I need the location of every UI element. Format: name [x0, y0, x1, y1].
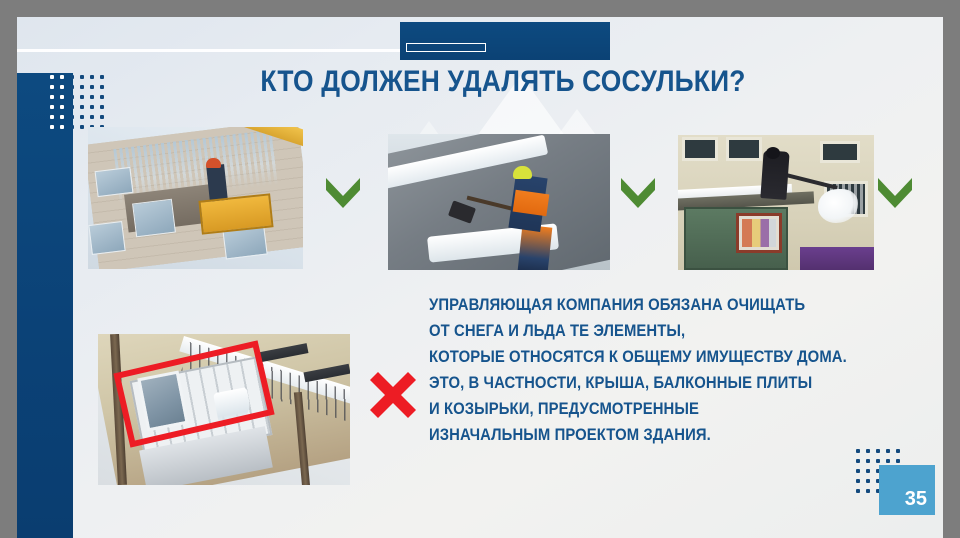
body-text-line: ОТ СНЕГА И ЛЬДА ТЕ ЭЛЕМЕНТЫ,	[429, 318, 879, 344]
body-text-line: И КОЗЫРЬКИ, ПРЕДУСМОТРЕННЫЕ	[429, 396, 879, 422]
dot-grid-top-left	[50, 75, 104, 129]
body-text-line: ЭТО, В ЧАСТНОСТИ, КРЫША, БАЛКОННЫЕ ПЛИТЫ	[429, 370, 879, 396]
photo-entrance-canopy-clearing	[678, 135, 874, 270]
top-accent-block	[400, 22, 610, 60]
top-accent-inner-outline	[406, 43, 486, 52]
photo-roof-snow-shoveling	[388, 134, 610, 270]
body-text-block: УПРАВЛЯЮЩАЯ КОМПАНИЯ ОБЯЗАНА ОЧИЩАТЬ ОТ …	[429, 292, 929, 448]
body-text-line: КОТОРЫЕ ОТНОСЯТСЯ К ОБЩЕМУ ИМУЩЕСТВУ ДОМ…	[429, 344, 879, 370]
slide-canvas: КТО ДОЛЖЕН УДАЛЯТЬ СОСУЛЬКИ?	[17, 17, 943, 538]
body-text-line: ИЗНАЧАЛЬНЫМ ПРОЕКТОМ ЗДАНИЯ.	[429, 422, 879, 448]
top-accent-line	[17, 49, 409, 52]
chevron-down-icon	[323, 172, 363, 212]
left-accent-bar	[17, 73, 73, 538]
chevron-down-icon	[875, 172, 915, 212]
photo-glazed-balcony-highlighted	[98, 334, 350, 485]
photo-cherry-picker-icicles	[88, 127, 303, 269]
red-cross-icon	[365, 367, 421, 423]
slide-title: КТО ДОЛЖЕН УДАЛЯТЬ СОСУЛЬКИ?	[125, 65, 882, 99]
body-text-line: УПРАВЛЯЮЩАЯ КОМПАНИЯ ОБЯЗАНА ОЧИЩАТЬ	[429, 292, 879, 318]
slide-root: КТО ДОЛЖЕН УДАЛЯТЬ СОСУЛЬКИ?	[0, 0, 960, 538]
chevron-down-icon	[618, 172, 658, 212]
page-number-badge: 35	[879, 465, 935, 515]
